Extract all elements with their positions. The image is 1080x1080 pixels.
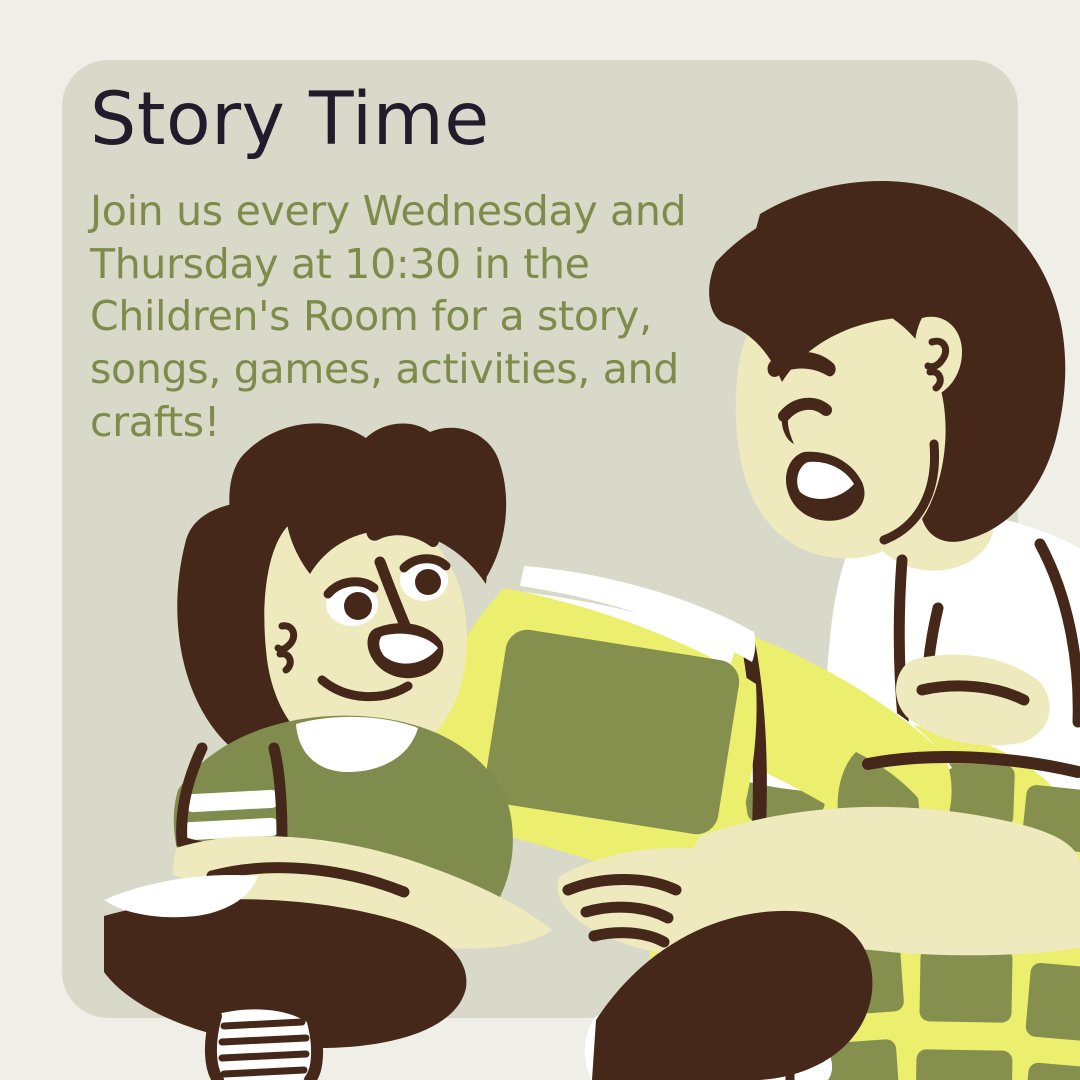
child-eye-right-pupil [415,569,441,595]
page-title: Story Time [90,82,700,159]
poster-text-block: Story Time Join us every Wednesday and T… [90,82,700,449]
child-eye-left-pupil [344,592,372,620]
book-cover-panel [482,627,743,838]
story-time-poster: Story Time Join us every Wednesday and T… [0,0,1080,1080]
event-description: Join us every Wednesday and Thursday at … [90,185,700,449]
